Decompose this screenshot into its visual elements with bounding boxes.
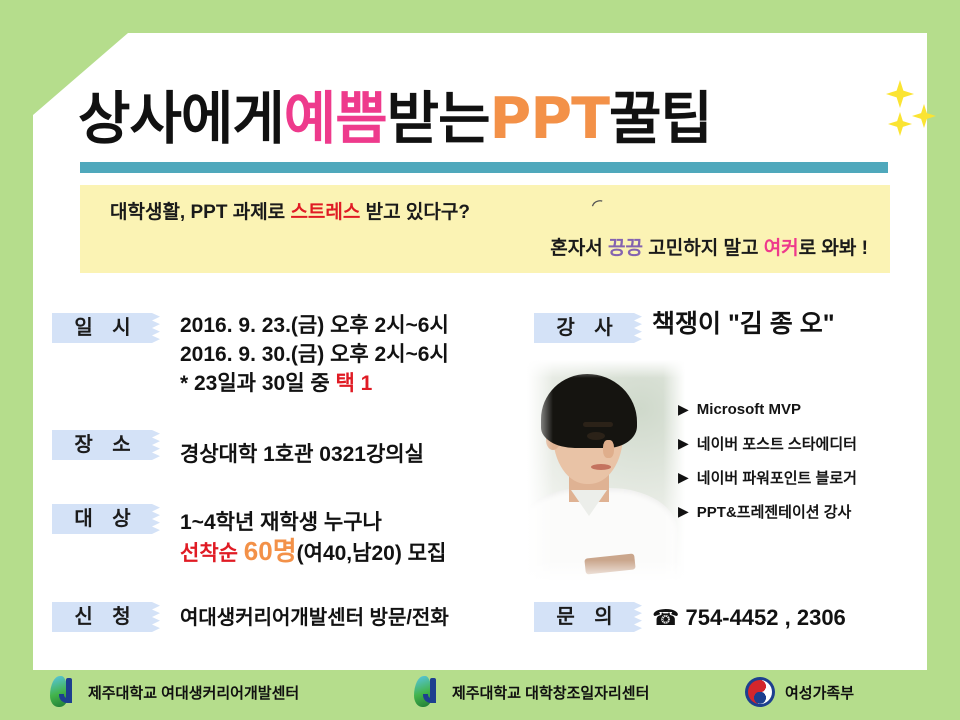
date-line-2: 2016. 9. 30.(금) 오후 2시~6시 — [180, 340, 449, 369]
date-line-3: * 23일과 30일 중 택 1 — [180, 369, 449, 398]
credentials-list: ▶ Microsoft MVP ▶ 네이버 포스트 스타에디터 ▶ 네이버 파워… — [678, 392, 918, 528]
credential-label: PPT&프레젠테이션 강사 — [697, 501, 852, 522]
teardrop-icon: ◜ — [588, 192, 604, 219]
callout-text-a: 대학생활, PPT 과제로 — [110, 202, 290, 223]
jnu-logo-icon — [412, 675, 442, 709]
callout-text-d: 고민하지 말고 — [643, 238, 764, 259]
footer: 제주대학교 여대생커리어개발센터 제주대학교 대학창조일자리센터 여성가족부 — [0, 670, 960, 720]
target-line-2: 선착순 60명(여40,남20) 모집 — [180, 537, 446, 568]
title-part-5: 꿀팁 — [609, 83, 712, 155]
callout-box: 대학생활, PPT 과제로 스트레스 받고 있다구? ◜ 혼자서 끙끙 고민하지… — [80, 185, 890, 273]
footer-logo-label: 제주대학교 대학창조일자리센터 — [452, 682, 649, 703]
footer-logo-1: 제주대학교 여대생커리어개발센터 — [48, 674, 299, 710]
instructor-photo — [527, 360, 685, 582]
value-target: 1~4학년 재학생 누구나 선착순 60명(여40,남20) 모집 — [180, 508, 446, 568]
list-item: ▶ 네이버 파워포인트 블로거 — [678, 460, 918, 494]
value-instructor: 책쟁이 "김 종 오" — [652, 310, 835, 339]
triangle-right-icon: ▶ — [678, 401, 689, 418]
value-place: 경상대학 1호관 0321강의실 — [180, 440, 424, 469]
date-pick-one: 택 1 — [336, 372, 373, 395]
credential-label: 네이버 파워포인트 블로거 — [697, 467, 857, 488]
list-item: ▶ 네이버 포스트 스타에디터 — [678, 426, 918, 460]
target-count: 60명 — [244, 536, 297, 566]
label-instructor: 강 사 — [534, 313, 642, 343]
date-line-1: 2016. 9. 23.(금) 오후 2시~6시 — [180, 311, 449, 340]
title-underline — [80, 162, 888, 173]
jnu-logo-icon — [48, 675, 78, 709]
target-firstcome: 선착순 — [180, 542, 244, 565]
title-part-3: 받는 — [387, 83, 490, 155]
title-part-1: 상사에게 — [78, 83, 284, 155]
title-part-ppt: PPT — [490, 83, 609, 155]
footer-logo-label: 여성가족부 — [785, 682, 854, 703]
credential-label: Microsoft MVP — [697, 401, 801, 418]
triangle-right-icon: ▶ — [678, 503, 689, 520]
callout-text-b: 받고 있다구? — [360, 202, 470, 223]
footer-logo-2: 제주대학교 대학창조일자리센터 — [412, 674, 649, 710]
taeguk-logo-icon — [745, 677, 775, 707]
label-inquiry: 문 의 — [534, 602, 642, 632]
callout-line-1: 대학생활, PPT 과제로 스트레스 받고 있다구? — [110, 197, 470, 224]
footer-logo-3: 여성가족부 — [745, 674, 854, 710]
target-breakdown: (여40,남20) 모집 — [297, 542, 447, 565]
value-apply: 여대생커리어개발센터 방문/전화 — [180, 604, 449, 633]
callout-text-c: 혼자서 — [550, 238, 608, 259]
callout-text-e: 로 와봐 ! — [799, 238, 868, 259]
inquiry-phone: 754-4452 , 2306 — [686, 605, 846, 630]
value-inquiry: ☎ 754-4452 , 2306 — [652, 603, 846, 633]
value-date: 2016. 9. 23.(금) 오후 2시~6시 2016. 9. 30.(금)… — [180, 311, 449, 398]
page-title: 상사에게 예쁨 받는 PPT 꿀팁 — [78, 83, 898, 155]
label-apply: 신 청 — [52, 602, 160, 632]
credential-label: 네이버 포스트 스타에디터 — [697, 433, 857, 454]
triangle-right-icon: ▶ — [678, 469, 689, 486]
callout-groan: 끙끙 — [608, 238, 643, 259]
title-part-pink: 예쁨 — [284, 83, 387, 155]
list-item: ▶ PPT&프레젠테이션 강사 — [678, 494, 918, 528]
poster-canvas: 상사에게 예쁨 받는 PPT 꿀팁 대학생활, PPT 과제로 스트레스 받고 … — [0, 0, 960, 720]
callout-yeokeo: 여커 — [764, 238, 799, 259]
triangle-right-icon: ▶ — [678, 435, 689, 452]
telephone-icon: ☎ — [652, 606, 679, 631]
date-note: * 23일과 30일 중 — [180, 372, 336, 395]
list-item: ▶ Microsoft MVP — [678, 392, 918, 426]
callout-line-2: 혼자서 끙끙 고민하지 말고 여커로 와봐 ! — [550, 233, 868, 260]
label-date: 일 시 — [52, 313, 160, 343]
target-line-1: 1~4학년 재학생 누구나 — [180, 508, 446, 537]
callout-stress: 스트레스 — [290, 202, 360, 223]
label-place: 장 소 — [52, 430, 160, 460]
footer-logo-label: 제주대학교 여대생커리어개발센터 — [88, 682, 299, 703]
label-target: 대 상 — [52, 504, 160, 534]
